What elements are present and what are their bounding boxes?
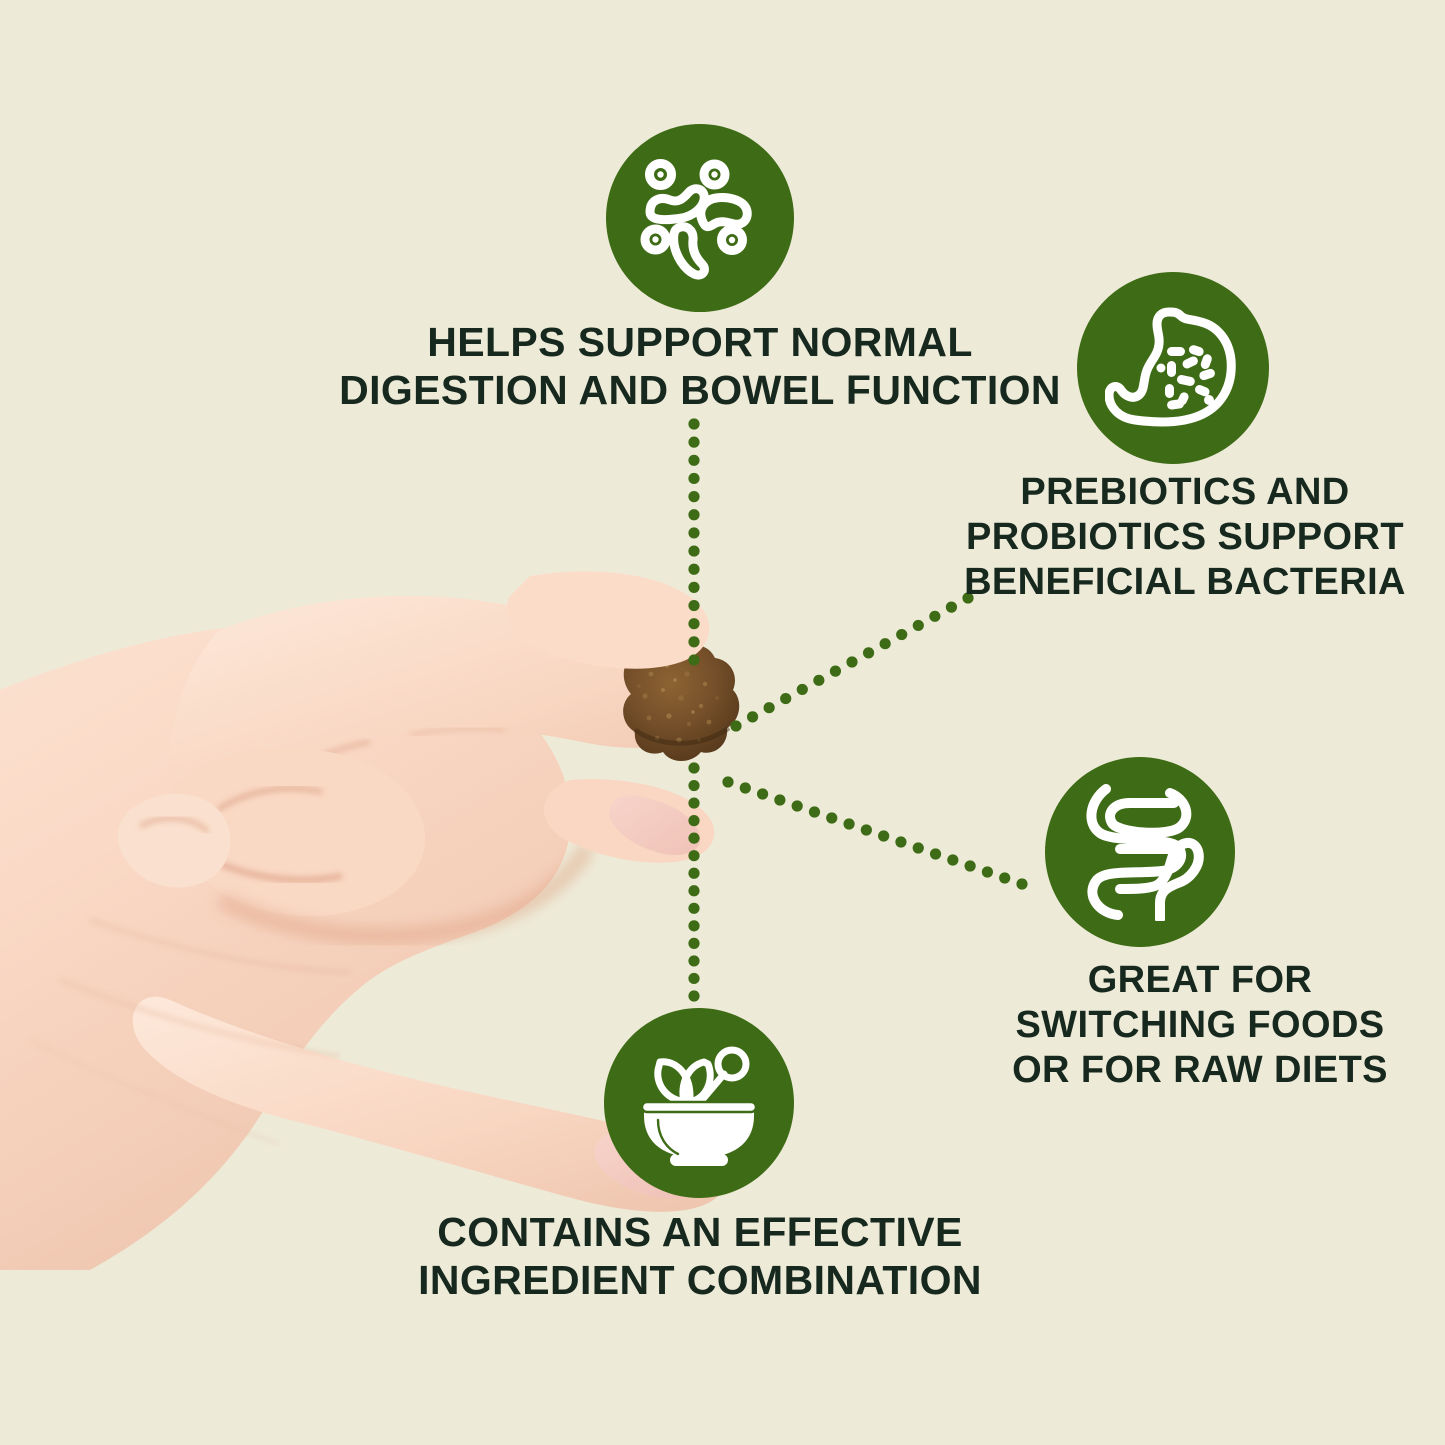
badge-intestine xyxy=(1045,757,1235,947)
infographic-canvas: HELPS SUPPORT NORMAL DIGESTION AND BOWEL… xyxy=(0,0,1445,1445)
caption-ingredient: CONTAINS AN EFFECTIVE INGREDIENT COMBINA… xyxy=(300,1208,1100,1305)
bacteria-icon xyxy=(636,154,764,282)
intestine-icon xyxy=(1074,783,1206,921)
badge-bacteria xyxy=(606,124,794,312)
caption-prebiotics-line-2: PROBIOTICS SUPPORT xyxy=(935,515,1435,560)
caption-switching-foods: GREAT FOR SWITCHING FOODS OR FOR RAW DIE… xyxy=(975,958,1425,1092)
caption-switching-line-2: SWITCHING FOODS xyxy=(975,1003,1425,1048)
caption-prebiotics: PREBIOTICS AND PROBIOTICS SUPPORT BENEFI… xyxy=(935,470,1435,604)
caption-digestion: HELPS SUPPORT NORMAL DIGESTION AND BOWEL… xyxy=(240,318,1160,415)
mortar-pestle-icon xyxy=(632,1036,766,1170)
caption-switching-line-1: GREAT FOR xyxy=(975,958,1425,1003)
caption-prebiotics-line-1: PREBIOTICS AND xyxy=(935,470,1435,515)
stomach-icon xyxy=(1105,300,1241,436)
caption-prebiotics-line-3: BENEFICIAL BACTERIA xyxy=(935,560,1435,605)
caption-ingredient-line-2: INGREDIENT COMBINATION xyxy=(300,1256,1100,1304)
caption-digestion-line-2: DIGESTION AND BOWEL FUNCTION xyxy=(240,366,1160,414)
caption-switching-line-3: OR FOR RAW DIETS xyxy=(975,1048,1425,1093)
caption-ingredient-line-1: CONTAINS AN EFFECTIVE xyxy=(300,1208,1100,1256)
badge-mortar-pestle xyxy=(604,1008,794,1198)
badge-stomach xyxy=(1077,272,1269,464)
caption-digestion-line-1: HELPS SUPPORT NORMAL xyxy=(240,318,1160,366)
